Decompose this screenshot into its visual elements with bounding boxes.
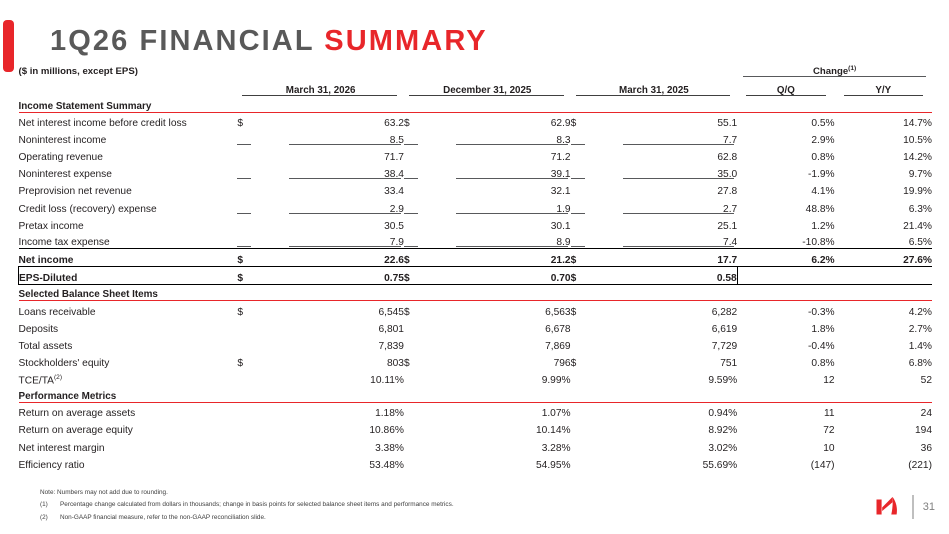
currency-symbol: $	[571, 307, 577, 318]
row-label-text: Deposits	[19, 324, 59, 335]
currency-symbol-cell	[237, 197, 251, 214]
change-cell: 1.8%	[737, 318, 834, 335]
table-row: Return on average assets1.18%1.07%0.94%1…	[19, 402, 933, 419]
change-cell: -10.8%	[737, 232, 834, 249]
table-row: Loans receivable$6,545$6,563$6,282-0.3%4…	[19, 301, 933, 318]
value-cell: 8.92%	[585, 419, 738, 436]
change-column-header-1: Q/Q	[737, 77, 834, 96]
row-label-text: Preprovision net revenue	[19, 186, 132, 197]
value-cell: 63.2	[251, 112, 404, 129]
row-label-text: Net interest margin	[19, 443, 105, 454]
company-logo-icon	[873, 492, 903, 522]
currency-symbol-cell	[237, 146, 251, 163]
row-label: Noninterest income	[19, 129, 238, 146]
currency-symbol-cell: $	[404, 249, 418, 267]
currency-symbol: $	[571, 273, 577, 284]
footnote-text: Non-GAAP financial measure, refer to the…	[60, 514, 266, 521]
eps-change-cell-yy	[835, 267, 932, 285]
change-cell: -0.3%	[737, 301, 834, 318]
row-label: Net interest income before credit loss	[19, 112, 238, 129]
currency-symbol-cell	[404, 215, 418, 232]
change-group-label: Change	[813, 66, 848, 77]
row-label: TCE/TA(2)	[19, 369, 238, 386]
currency-symbol-cell	[404, 197, 418, 214]
value-cell: 30.5	[251, 215, 404, 232]
value-cell: 55.69%	[585, 454, 738, 471]
value-cell: 803	[251, 352, 404, 369]
currency-symbol: $	[237, 255, 243, 266]
currency-symbol-cell: $	[571, 112, 585, 129]
value-cell: 62.9	[418, 112, 571, 129]
table-row: Total assets7,8397,8697,729-0.4%1.4%	[19, 335, 933, 352]
value-cell: 22.6	[251, 249, 404, 267]
value-cell: 7.4	[585, 232, 738, 249]
currency-symbol-cell	[404, 402, 418, 419]
value-cell: 1.9	[418, 197, 571, 214]
change-cell: 21.4%	[835, 215, 932, 232]
change-cell: (147)	[737, 454, 834, 471]
value-cell: 9.99%	[418, 369, 571, 386]
value-cell: 27.8	[585, 180, 738, 197]
currency-symbol-cell	[237, 335, 251, 352]
column-header-1: March 31, 2026	[237, 77, 404, 96]
section-header-row: Performance Metrics	[19, 386, 933, 402]
value-cell: 38.4	[251, 163, 404, 180]
table-row: Noninterest income8.58.37.72.9%10.5%	[19, 129, 933, 146]
value-cell: 54.95%	[418, 454, 571, 471]
change-group-footnote: (1)	[848, 65, 856, 72]
row-label: Stockholders' equity	[19, 352, 238, 369]
change-cell: 6.2%	[737, 249, 834, 267]
value-cell: 3.02%	[585, 436, 738, 453]
table-header-row: March 31, 2026December 31, 2025March 31,…	[19, 77, 933, 96]
change-cell: 19.9%	[835, 180, 932, 197]
currency-symbol-cell	[237, 180, 251, 197]
change-group-header: Change(1)	[737, 60, 932, 77]
row-label-footnote: (2)	[54, 374, 62, 381]
footnote-number: (2)	[40, 512, 60, 524]
currency-symbol-cell	[571, 129, 585, 146]
footer-divider	[912, 495, 914, 519]
row-label-text: Noninterest income	[19, 135, 107, 146]
column-header-2: December 31, 2025	[404, 77, 571, 96]
currency-symbol-cell: $	[237, 112, 251, 129]
currency-symbol-cell	[571, 419, 585, 436]
currency-symbol-cell: $	[404, 352, 418, 369]
currency-symbol: $	[237, 118, 243, 129]
row-label-text: Return on average assets	[19, 408, 136, 419]
currency-symbol: $	[404, 273, 410, 284]
currency-symbol-cell	[571, 436, 585, 453]
row-label: Return on average equity	[19, 419, 238, 436]
currency-symbol-cell	[571, 454, 585, 471]
currency-symbol-cell	[404, 129, 418, 146]
table-row: Net interest margin3.38%3.28%3.02%1036	[19, 436, 933, 453]
table-row: TCE/TA(2)10.11%9.99%9.59%1252	[19, 369, 933, 386]
page-number: 31	[923, 501, 935, 513]
value-cell: 8.5	[251, 129, 404, 146]
change-cell: 48.8%	[737, 197, 834, 214]
change-cell: (221)	[835, 454, 932, 471]
change-cell: 2.9%	[737, 129, 834, 146]
table-row: Return on average equity10.86%10.14%8.92…	[19, 419, 933, 436]
table-row: Noninterest expense38.439.135.0-1.9%9.7%	[19, 163, 933, 180]
table-row: Net interest income before credit loss$6…	[19, 112, 933, 129]
eps-value-cell: 0.70	[418, 267, 571, 285]
financial-summary-table: ($ in millions, except EPS)Change(1)Marc…	[18, 60, 932, 471]
currency-symbol-cell: $	[571, 352, 585, 369]
value-cell: 9.59%	[585, 369, 738, 386]
change-cell: 0.5%	[737, 112, 834, 129]
currency-symbol-cell	[571, 402, 585, 419]
row-label: Noninterest expense	[19, 163, 238, 180]
value-cell: 6,563	[418, 301, 571, 318]
value-cell: 7,729	[585, 335, 738, 352]
change-cell: 6.8%	[835, 352, 932, 369]
value-cell: 71.7	[251, 146, 404, 163]
column-header-3: March 31, 2025	[571, 77, 738, 96]
footnote-number: (1)	[40, 499, 60, 511]
footnote-text: Percentage change calculated from dollar…	[60, 501, 454, 508]
value-cell: 1.18%	[251, 402, 404, 419]
row-label: Loans receivable	[19, 301, 238, 318]
currency-symbol: $	[237, 307, 243, 318]
value-cell: 8.3	[418, 129, 571, 146]
currency-symbol-cell	[237, 232, 251, 249]
change-cell: 4.1%	[737, 180, 834, 197]
currency-symbol: $	[571, 118, 577, 129]
currency-symbol-cell	[237, 369, 251, 386]
change-cell: 12	[737, 369, 834, 386]
value-cell: 55.1	[585, 112, 738, 129]
currency-symbol-cell	[237, 436, 251, 453]
currency-symbol-cell	[237, 318, 251, 335]
currency-symbol-cell	[404, 146, 418, 163]
change-cell: 14.2%	[835, 146, 932, 163]
table-units-label: ($ in millions, except EPS)	[19, 60, 238, 77]
change-cell: 6.5%	[835, 232, 932, 249]
change-cell: 6.3%	[835, 197, 932, 214]
currency-symbol: $	[404, 358, 410, 369]
currency-symbol-cell	[571, 369, 585, 386]
row-label: Pretax income	[19, 215, 238, 232]
currency-symbol-cell	[404, 335, 418, 352]
change-cell: 0.8%	[737, 352, 834, 369]
currency-symbol-cell	[404, 454, 418, 471]
value-cell: 39.1	[418, 163, 571, 180]
currency-symbol-cell	[571, 197, 585, 214]
value-cell: 10.14%	[418, 419, 571, 436]
table-row: Income tax expense7.98.97.4-10.8%6.5%	[19, 232, 933, 249]
value-cell: 3.28%	[418, 436, 571, 453]
value-cell: 7.9	[251, 232, 404, 249]
page-title-highlight: SUMMARY	[324, 25, 487, 57]
table-row: Stockholders' equity$803$796$7510.8%6.8%	[19, 352, 933, 369]
value-cell: 10.11%	[251, 369, 404, 386]
eps-label: EPS-Diluted	[19, 267, 238, 285]
section-title: Selected Balance Sheet Items	[19, 285, 238, 301]
change-cell: 10	[737, 436, 834, 453]
table-row: Credit loss (recovery) expense2.91.92.74…	[19, 197, 933, 214]
change-cell: 1.4%	[835, 335, 932, 352]
row-label: Income tax expense	[19, 232, 238, 249]
currency-symbol-cell: $	[237, 301, 251, 318]
change-cell: 0.8%	[737, 146, 834, 163]
value-cell: 6,678	[418, 318, 571, 335]
row-label-text: Efficiency ratio	[19, 460, 85, 471]
currency-symbol: $	[404, 118, 410, 129]
row-label: Total assets	[19, 335, 238, 352]
section-header-row: Selected Balance Sheet Items	[19, 285, 933, 301]
table-row: Operating revenue71.771.262.80.8%14.2%	[19, 146, 933, 163]
row-label: Efficiency ratio	[19, 454, 238, 471]
table-header-group-row: ($ in millions, except EPS)Change(1)	[19, 60, 933, 77]
eps-value-cell: 0.75	[251, 267, 404, 285]
currency-symbol: $	[571, 255, 577, 266]
currency-symbol-cell	[571, 335, 585, 352]
currency-symbol-cell	[404, 436, 418, 453]
currency-symbol-cell	[571, 146, 585, 163]
value-cell: 1.07%	[418, 402, 571, 419]
currency-symbol: $	[237, 358, 243, 369]
row-label-text: Operating revenue	[19, 152, 103, 163]
value-cell: 7,839	[251, 335, 404, 352]
section-title: Income Statement Summary	[19, 96, 238, 112]
value-cell: 7,869	[418, 335, 571, 352]
change-cell: 72	[737, 419, 834, 436]
value-cell: 25.1	[585, 215, 738, 232]
currency-symbol: $	[237, 273, 243, 284]
change-cell: 4.2%	[835, 301, 932, 318]
table-row: Net income$22.6$21.2$17.76.2%27.6%	[19, 249, 933, 267]
value-cell: 796	[418, 352, 571, 369]
currency-symbol-cell	[571, 163, 585, 180]
currency-symbol-cell	[237, 215, 251, 232]
eps-value-cell: 0.58	[585, 267, 738, 285]
currency-symbol-cell: $	[237, 249, 251, 267]
currency-symbol-cell	[237, 402, 251, 419]
currency-symbol-cell	[404, 232, 418, 249]
currency-symbol-cell	[404, 163, 418, 180]
currency-symbol-cell	[571, 232, 585, 249]
value-cell: 35.0	[585, 163, 738, 180]
change-cell: -0.4%	[737, 335, 834, 352]
change-cell: 24	[835, 402, 932, 419]
row-label: Operating revenue	[19, 146, 238, 163]
value-cell: 32.1	[418, 180, 571, 197]
currency-symbol-cell	[571, 180, 585, 197]
currency-symbol-cell: $	[571, 249, 585, 267]
value-cell: 0.94%	[585, 402, 738, 419]
row-label-text: Income tax expense	[19, 237, 110, 248]
section-title: Performance Metrics	[19, 386, 238, 402]
row-label-text: TCE/TA	[19, 375, 54, 386]
row-label: Return on average assets	[19, 402, 238, 419]
value-cell: 6,282	[585, 301, 738, 318]
row-label: Preprovision net revenue	[19, 180, 238, 197]
currency-symbol-cell	[237, 419, 251, 436]
row-label-text: Return on average equity	[19, 425, 133, 436]
row-label: Net interest margin	[19, 436, 238, 453]
row-label-text: Stockholders' equity	[19, 358, 110, 369]
footnote-item: (1)Percentage change calculated from dol…	[40, 499, 454, 511]
value-cell: 2.7	[585, 197, 738, 214]
slide-footer: 31	[873, 492, 935, 522]
eps-diluted-row: EPS-Diluted$0.75$0.70$0.58	[19, 267, 933, 285]
change-cell: -1.9%	[737, 163, 834, 180]
change-column-header-2: Y/Y	[835, 77, 932, 96]
currency-symbol: $	[571, 358, 577, 369]
currency-symbol-cell: $	[571, 301, 585, 318]
row-label-text: Noninterest expense	[19, 169, 112, 180]
value-cell: 6,619	[585, 318, 738, 335]
currency-symbol-cell	[404, 369, 418, 386]
currency-symbol-cell: $	[404, 301, 418, 318]
table-row: Deposits6,8016,6786,6191.8%2.7%	[19, 318, 933, 335]
eps-currency-symbol-cell: $	[237, 267, 251, 285]
row-label-text: Net interest income before credit loss	[19, 118, 187, 129]
eps-change-cell-qq	[737, 267, 834, 285]
currency-symbol-cell	[237, 163, 251, 180]
value-cell: 17.7	[585, 249, 738, 267]
change-cell: 2.7%	[835, 318, 932, 335]
footnotes: Note: Numbers may not add due to roundin…	[40, 487, 454, 524]
currency-symbol-cell	[237, 454, 251, 471]
change-cell: 36	[835, 436, 932, 453]
eps-currency-symbol-cell: $	[404, 267, 418, 285]
currency-symbol-cell	[571, 318, 585, 335]
title-accent-bar	[3, 20, 14, 72]
footnote-note: Note: Numbers may not add due to roundin…	[40, 487, 454, 499]
value-cell: 7.7	[585, 129, 738, 146]
row-label-text: Pretax income	[19, 221, 84, 232]
section-header-row: Income Statement Summary	[19, 96, 933, 112]
value-cell: 10.86%	[251, 419, 404, 436]
change-cell: 14.7%	[835, 112, 932, 129]
currency-symbol-cell	[571, 215, 585, 232]
value-cell: 53.48%	[251, 454, 404, 471]
value-cell: 71.2	[418, 146, 571, 163]
row-label: Credit loss (recovery) expense	[19, 197, 238, 214]
page-title-plain: 1Q26 FINANCIAL	[50, 25, 324, 57]
currency-symbol: $	[404, 307, 410, 318]
row-label-text: Credit loss (recovery) expense	[19, 204, 157, 215]
row-label: Deposits	[19, 318, 238, 335]
value-cell: 30.1	[418, 215, 571, 232]
currency-symbol-cell: $	[237, 352, 251, 369]
row-label-text: Loans receivable	[19, 307, 96, 318]
row-label-text: Total assets	[19, 341, 73, 352]
change-cell: 27.6%	[835, 249, 932, 267]
value-cell: 8.9	[418, 232, 571, 249]
value-cell: 6,545	[251, 301, 404, 318]
value-cell: 21.2	[418, 249, 571, 267]
currency-symbol-cell: $	[404, 112, 418, 129]
change-cell: 11	[737, 402, 834, 419]
value-cell: 62.8	[585, 146, 738, 163]
value-cell: 6,801	[251, 318, 404, 335]
change-cell: 9.7%	[835, 163, 932, 180]
change-cell: 10.5%	[835, 129, 932, 146]
row-label-text: Net income	[19, 255, 74, 266]
value-cell: 3.38%	[251, 436, 404, 453]
eps-currency-symbol-cell: $	[571, 267, 585, 285]
table-row: Pretax income30.530.125.11.2%21.4%	[19, 215, 933, 232]
value-cell: 751	[585, 352, 738, 369]
change-cell: 52	[835, 369, 932, 386]
currency-symbol: $	[404, 255, 410, 266]
currency-symbol-cell	[404, 318, 418, 335]
value-cell: 2.9	[251, 197, 404, 214]
page-title: 1Q26 FINANCIAL SUMMARY	[50, 25, 488, 58]
footnote-item: (2)Non-GAAP financial measure, refer to …	[40, 512, 454, 524]
change-cell: 194	[835, 419, 932, 436]
value-cell: 33.4	[251, 180, 404, 197]
table-row: Efficiency ratio53.48%54.95%55.69%(147)(…	[19, 454, 933, 471]
currency-symbol-cell	[404, 180, 418, 197]
table-row: Preprovision net revenue33.432.127.84.1%…	[19, 180, 933, 197]
currency-symbol-cell	[404, 419, 418, 436]
change-cell: 1.2%	[737, 215, 834, 232]
row-label: Net income	[19, 249, 238, 267]
currency-symbol-cell	[237, 129, 251, 146]
